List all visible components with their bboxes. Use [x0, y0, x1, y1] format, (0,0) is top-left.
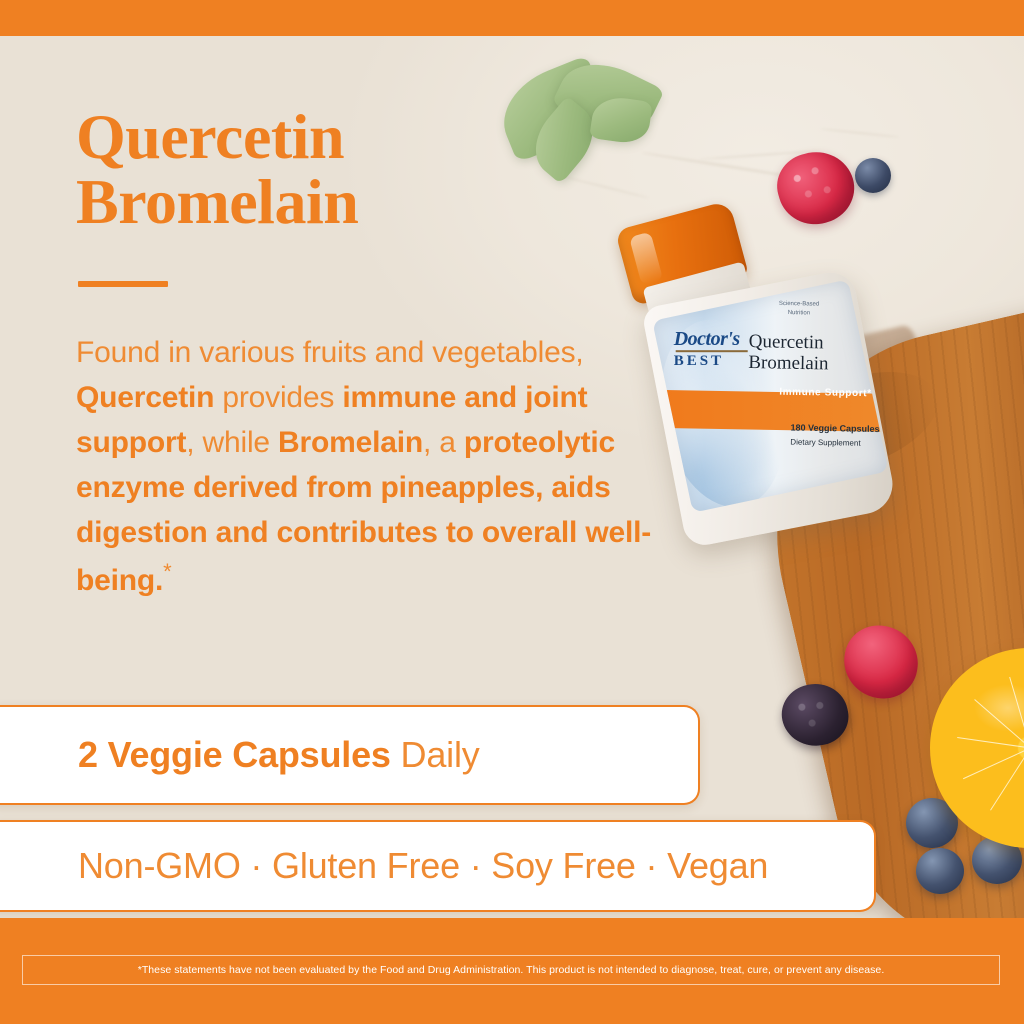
marble-vein [820, 128, 900, 138]
description-segment-2: provides [214, 381, 342, 414]
description-segment-0: Found in various fruits and vegetables, [76, 336, 584, 369]
page-title: Quercetin Bromelain [76, 104, 636, 235]
dosage-banner-text: 2 Veggie Capsules Daily [0, 734, 480, 776]
attributes-banner: Non-GMO · Gluten Free · Soy Free · Vegan [0, 820, 876, 912]
dosage-banner: 2 Veggie Capsules Daily [0, 705, 700, 805]
label-product-name-line1: Quercetin [749, 331, 824, 353]
orange-segment-divider [963, 748, 1024, 780]
label-product-name-line2: Bromelain [748, 352, 829, 374]
science-tagline-line2: Nutrition [788, 310, 810, 316]
description-segment-4: , while [186, 426, 278, 459]
title-line-2: Bromelain [76, 166, 358, 237]
fda-disclaimer: *These statements have not been evaluate… [22, 955, 1000, 985]
top-accent-bar [0, 0, 1024, 36]
description-segment-6: , a [423, 426, 464, 459]
label-count-block: 180 Veggie Capsules Dietary Supplement [790, 421, 888, 450]
description-paragraph: Found in various fruits and vegetables, … [76, 330, 656, 603]
label-capsule-count: 180 Veggie Capsules [790, 422, 879, 434]
title-line-1: Quercetin [76, 101, 344, 172]
description-segment-1: Quercetin [76, 381, 214, 414]
description-segment-5: Bromelain [278, 426, 423, 459]
label-supplement-type: Dietary Supplement [790, 437, 860, 447]
product-infographic: Doctor's BEST Science-Based Nutrition Qu… [0, 0, 1024, 1024]
orange-segment-divider [957, 737, 1024, 749]
bottle-label: Doctor's BEST Science-Based Nutrition Qu… [652, 279, 888, 512]
label-product-name: Quercetin Bromelain [748, 331, 879, 376]
description-asterisk: * [163, 559, 171, 584]
title-divider [78, 281, 168, 287]
attributes-banner-text: Non-GMO · Gluten Free · Soy Free · Vegan [0, 845, 768, 887]
science-tagline: Science-Based Nutrition [757, 300, 841, 319]
dosage-bold: 2 Veggie Capsules [78, 734, 391, 775]
dosage-regular: Daily [391, 734, 480, 775]
science-tagline-line1: Science-Based [779, 301, 819, 308]
blueberry [916, 848, 964, 894]
